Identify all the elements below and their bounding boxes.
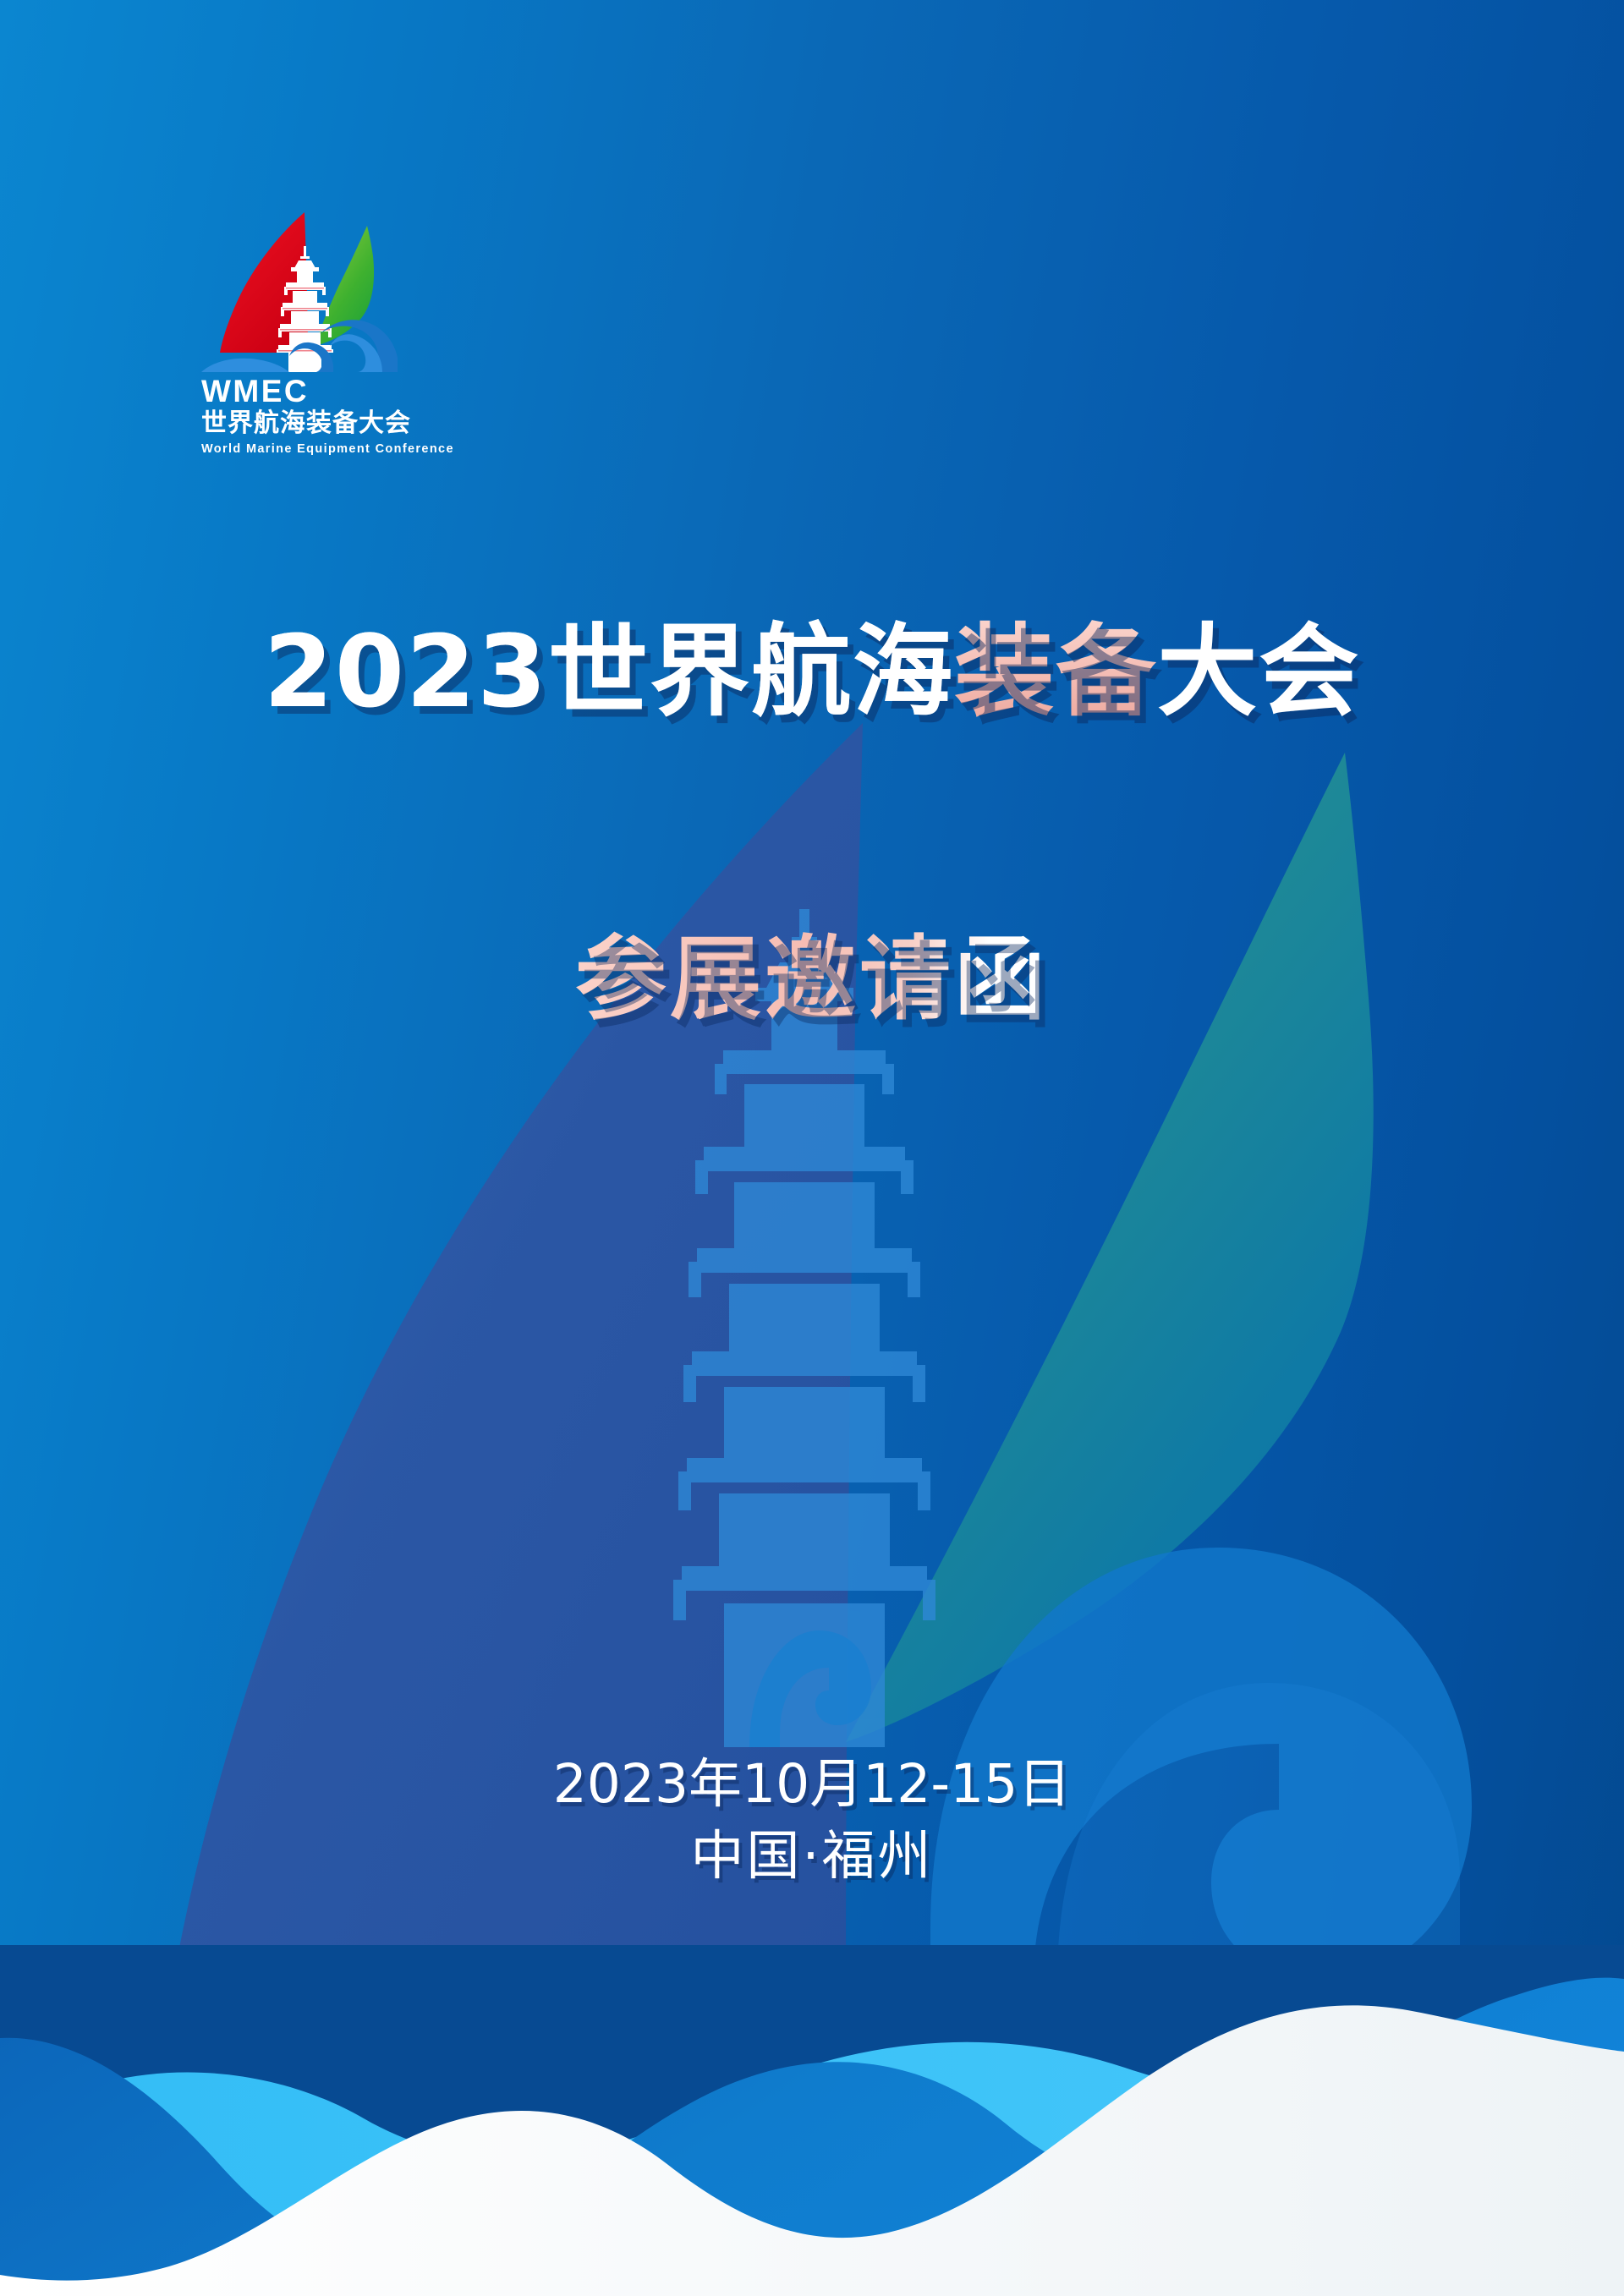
logo-name-en: World Marine Equipment Conference: [201, 442, 423, 457]
title-segment-white-2: 大会: [1157, 613, 1360, 730]
event-location: 中国·福州: [0, 1823, 1624, 1889]
page-title: 2023世界航海装备大会: [0, 614, 1624, 730]
wmec-logo: WMEC 世界航海装备大会 World Marine Equipment Con…: [201, 207, 455, 461]
page-subtitle: 参展邀请函: [0, 926, 1624, 1033]
subtitle-text: 参展邀请函: [575, 927, 1049, 1033]
event-date: 2023年10月12-15日: [0, 1752, 1624, 1817]
logo-acronym: WMEC: [201, 375, 423, 407]
wmec-logo-mark: [201, 207, 398, 372]
title-segment-white-1: 2023世界航海: [264, 613, 954, 730]
title-segment-pink: 装备: [954, 613, 1157, 730]
event-meta: 2023年10月12-15日 中国·福州: [0, 1752, 1624, 1889]
poster-root: WMEC 世界航海装备大会 World Marine Equipment Con…: [0, 0, 1624, 2296]
wmec-logo-text: WMEC 世界航海装备大会 World Marine Equipment Con…: [201, 375, 423, 458]
logo-name-cn: 世界航海装备大会: [201, 408, 423, 438]
